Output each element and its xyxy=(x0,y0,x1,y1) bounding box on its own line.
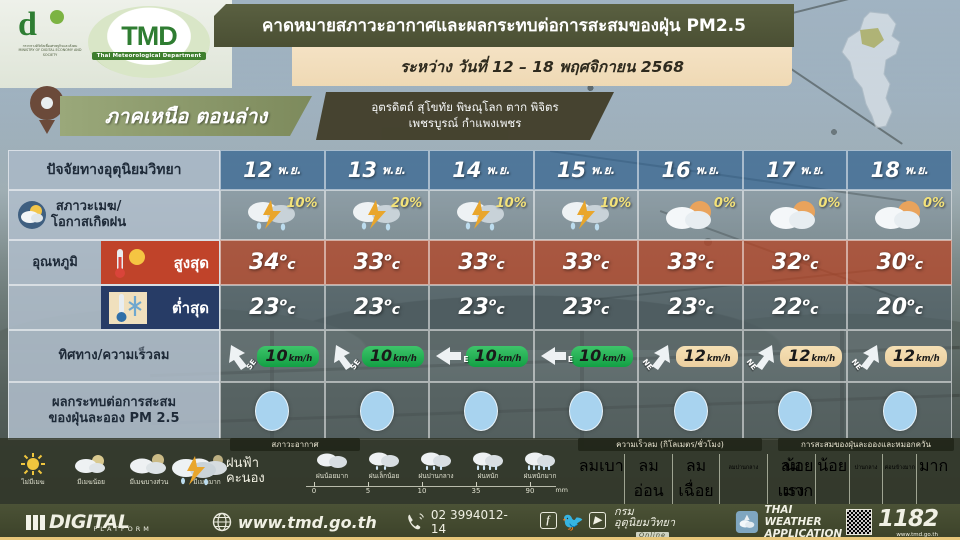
row-label-temperature: อุณหภูมิ xyxy=(9,255,101,271)
wind-speed-badge: 10 km/h xyxy=(257,346,319,367)
pm25-level-dot xyxy=(569,391,603,431)
wind-speed-value: 12 xyxy=(893,348,915,364)
temp-max-value: 33 xyxy=(354,250,385,275)
temp-unit: c xyxy=(392,257,400,273)
wind-direction-arrow-icon: NE xyxy=(853,339,883,373)
wind-speed-unit: km/h xyxy=(393,355,417,364)
wind-speed-value: 10 xyxy=(579,348,601,364)
day-number: 16 xyxy=(661,158,690,182)
ministry-logo-caption: กระทรวงดิจิทัลเพื่อเศรษฐกิจและสังคม MINI… xyxy=(18,44,82,57)
region-banner: ภาคเหนือ ตอนล่าง xyxy=(60,96,312,136)
row-label-wind: ทิศทาง/ความเร็วลม xyxy=(8,330,220,382)
day-number: 18 xyxy=(871,158,900,182)
temp-max-value: 33 xyxy=(563,250,594,275)
legend-storm-label-line2: คะนอง xyxy=(226,472,265,487)
legend-pm-label: น้อยมาก xyxy=(783,456,813,500)
heavy-rain-icon xyxy=(471,450,505,470)
qr-code-icon[interactable] xyxy=(846,509,872,535)
cloud-cell: 0% xyxy=(847,190,952,240)
partly-cloudy-icon xyxy=(660,196,722,234)
temp-max-label: สูงสุด xyxy=(174,254,209,272)
temp-unit: c xyxy=(706,257,714,273)
day-month: พ.ย. xyxy=(696,161,720,180)
temp-max-cell: 33oc xyxy=(638,240,743,285)
row-label-cloud-line1: สภาวะเมฆ/ xyxy=(51,199,126,215)
temp-min-value: 20 xyxy=(877,295,908,320)
wind-speed-unit: km/h xyxy=(602,355,626,364)
temp-min-value: 23 xyxy=(354,295,385,320)
cloud-icon xyxy=(315,450,349,470)
wind-speed-unit: km/h xyxy=(498,355,522,364)
day-header-cell: 18 พ.ย. xyxy=(847,150,952,190)
phone-number: 02 3994012-14 xyxy=(431,508,516,536)
legend-pm-label: ค่อนข้างมาก xyxy=(885,465,915,471)
app-label: THAI WEATHER APPLICATION xyxy=(764,504,846,540)
temp-min-value: 22 xyxy=(772,295,803,320)
legend-wind-label: ลมเบา xyxy=(579,456,624,475)
legend-strip: สภาวะอากาศ ไม่มีเมฆ มีเมฆน้อย xyxy=(0,438,960,504)
temp-max-cell: 33oc xyxy=(534,240,639,285)
day-number: 13 xyxy=(348,158,377,182)
globe-icon xyxy=(212,512,232,532)
pm25-cell xyxy=(429,382,534,440)
legend-rain-tick: 5 xyxy=(366,487,370,495)
cloud-cell: 0% xyxy=(743,190,848,240)
pm25-row: ผลกระทบต่อการสะสม ของฝุ่นละออง PM 2.5 xyxy=(8,382,952,440)
thermometer-hot-icon xyxy=(107,245,149,281)
pm25-cell xyxy=(534,382,639,440)
phone-icon xyxy=(405,511,425,533)
legend-storm-label-line1: ฝนฟ้า xyxy=(226,457,265,472)
legend-rain-item: ฝนน้อยมาก xyxy=(306,450,358,481)
social-links[interactable]: f 🐦 ▶ xyxy=(540,512,606,533)
day-header-cell: 15 พ.ย. xyxy=(534,150,639,190)
rain-probability: 20% xyxy=(391,196,422,211)
wind-speed-value: 12 xyxy=(684,348,706,364)
rain-probability: 10% xyxy=(496,196,527,211)
ministry-logo: d กระทรวงดิจิทัลเพื่อเศรษฐกิจและสังคม MI… xyxy=(18,8,82,70)
tmd-logo-subtitle: Thai Meteorological Department xyxy=(92,52,207,60)
legend-rain-unit: mm xyxy=(555,486,568,494)
wind-speed-badge: 10 km/h xyxy=(466,346,528,367)
temp-unit: c xyxy=(287,302,295,318)
logo-strip: d กระทรวงดิจิทัลเพื่อเศรษฐกิจและสังคม MI… xyxy=(0,0,232,88)
pm25-cell xyxy=(220,382,325,440)
tmd-online-label: กรมอุตุนิยมวิทยา Online xyxy=(614,506,689,539)
legend-pm-label: ปานกลาง xyxy=(855,465,878,471)
pm25-level-dot xyxy=(464,391,498,431)
row-label-pm25-line2: ของฝุ่นละออง PM 2.5 xyxy=(48,411,179,427)
row-label-temperature-max: อุณหภูมิ สูงสุด xyxy=(8,240,220,285)
hotline-block: 1182 www.tmd.go.th xyxy=(846,506,938,538)
wind-speed-value: 10 xyxy=(474,348,496,364)
legend-rain: ฝนน้อยมาก ฝนเล็กน้อย ฝนปานกลาง ฝนหนัก ฝน… xyxy=(306,450,566,498)
website-link[interactable]: www.tmd.go.th xyxy=(212,512,377,532)
temp-max-value: 30 xyxy=(877,250,908,275)
youtube-icon[interactable]: ▶ xyxy=(589,512,606,529)
legend-sky-label: มีเมฆน้อย xyxy=(77,477,105,487)
region-label: ภาคเหนือ ตอนล่าง xyxy=(105,100,267,132)
temp-unit: c xyxy=(601,302,609,318)
temp-unit: c xyxy=(915,302,923,318)
legend-pm-title: การสะสมของฝุ่นละอองและหมอกควัน xyxy=(778,438,954,451)
pm25-cell xyxy=(638,382,743,440)
wind-speed-badge: 12 km/h xyxy=(885,346,947,367)
infographic-root: d กระทรวงดิจิทัลเพื่อเศรษฐกิจและสังคม MI… xyxy=(0,0,960,540)
row-label-temperature-min: ต่ำสุด xyxy=(8,285,220,330)
twitter-icon[interactable]: 🐦 xyxy=(562,512,584,533)
wind-speed-badge: 12 km/h xyxy=(676,346,738,367)
legend-rain-item: ฝนปานกลาง xyxy=(410,450,462,481)
temp-min-cell: 23oc xyxy=(220,285,325,330)
wind-direction-arrow-icon: E xyxy=(434,339,464,373)
pm25-level-dot xyxy=(883,391,917,431)
day-month: พ.ย. xyxy=(591,161,615,180)
day-month: พ.ย. xyxy=(382,161,406,180)
tmd-online-text: กรมอุตุนิยมวิทยา xyxy=(614,506,689,528)
row-label-factors: ปัจจัยทางอุตุนิยมวิทยา xyxy=(8,150,220,190)
temp-min-cell: 23oc xyxy=(534,285,639,330)
wind-direction-arrow-icon: NE xyxy=(644,339,674,373)
page-title: คาดหมายสภาวะอากาศและผลกระทบต่อการสะสมของ… xyxy=(214,4,794,47)
temp-unit: c xyxy=(810,257,818,273)
legend-wind-label: ลมอ่อน xyxy=(634,456,664,500)
row-label-pm25: ผลกระทบต่อการสะสม ของฝุ่นละออง PM 2.5 xyxy=(8,382,220,440)
row-label-cloud: สภาวะเมฆ/ โอกาสเกิดฝน xyxy=(8,190,220,240)
pm25-level-dot xyxy=(255,391,289,431)
temp-max-value: 33 xyxy=(458,250,489,275)
temp-max-cell: 33oc xyxy=(325,240,430,285)
ministry-logo-dot xyxy=(50,10,64,24)
wind-direction-label: E xyxy=(463,355,468,364)
temp-max-row: อุณหภูมิ สูงสุด 34oc 33oc 33oc 33oc 33oc… xyxy=(8,240,952,285)
temp-min-cell: 20oc xyxy=(847,285,952,330)
app-label-line1: THAI WEATHER xyxy=(764,504,846,528)
day-number: 17 xyxy=(766,158,795,182)
wind-cell: NE 12 km/h xyxy=(638,330,743,382)
pm25-level-dot xyxy=(674,391,708,431)
temp-max-cell: 34oc xyxy=(220,240,325,285)
table-header-row: ปัจจัยทางอุตุนิยมวิทยา 12 พ.ย. 13 พ.ย. 1… xyxy=(8,150,952,190)
legend-sky-item: มีเมฆน้อย xyxy=(62,452,120,487)
wind-cell: E 10 km/h xyxy=(534,330,639,382)
legend-rain-label: ฝนหนักมาก xyxy=(524,471,557,481)
tmd-logo: TMD Thai Meteorological Department xyxy=(88,6,210,78)
temp-unit: c xyxy=(810,302,818,318)
cloud-cell: 10% xyxy=(220,190,325,240)
legend-rain-item: ฝนหนัก xyxy=(462,450,514,481)
cloud-cell: 0% xyxy=(638,190,743,240)
legend-pm-label: มาก xyxy=(919,456,948,475)
temp-min-row: ต่ำสุด 23oc 23oc 23oc 23oc 23oc 22oc 20o… xyxy=(8,285,952,330)
legend-rain-item: ฝนหนักมาก xyxy=(514,450,566,481)
wind-speed-badge: 10 km/h xyxy=(362,346,424,367)
day-header-cell: 16 พ.ย. xyxy=(638,150,743,190)
legend-rain-label: ฝนปานกลาง xyxy=(418,471,453,481)
rain-probability: 0% xyxy=(714,196,736,211)
day-month: พ.ย. xyxy=(800,161,824,180)
temp-min-cell: 22oc xyxy=(743,285,848,330)
partly-cloudy-icon xyxy=(869,196,931,234)
temp-min-value: 23 xyxy=(249,295,280,320)
province-list: อุตรดิตถ์ สุโขทัย พิษณุโลก ตาก พิจิตร เพ… xyxy=(316,92,614,140)
wind-row: ทิศทาง/ความเร็วลม SE 10 km/h SE 10 xyxy=(8,330,952,382)
wind-direction-arrow-icon: E xyxy=(539,339,569,373)
wind-direction-arrow-icon: SE xyxy=(330,339,360,373)
rain-probability: 10% xyxy=(600,196,631,211)
temp-unit: c xyxy=(601,257,609,273)
rain-probability: 0% xyxy=(923,196,945,211)
wind-direction-label: E xyxy=(568,355,573,364)
day-number: 14 xyxy=(452,158,481,182)
temp-max-value: 32 xyxy=(772,250,803,275)
legend-rain-tick: 0 xyxy=(312,487,316,495)
wind-speed-badge: 12 km/h xyxy=(780,346,842,367)
wind-speed-unit: km/h xyxy=(289,355,313,364)
rain-probability: 0% xyxy=(818,196,840,211)
phone-contact: 02 3994012-14 xyxy=(405,508,516,536)
temp-unit: c xyxy=(392,302,400,318)
pm25-cell xyxy=(847,382,952,440)
wind-speed-value: 10 xyxy=(265,348,287,364)
wind-cell: NE 12 km/h xyxy=(847,330,952,382)
wind-cell: SE 10 km/h xyxy=(220,330,325,382)
legend-wind-title: ความเร็วลม (กิโลเมตร/ชั่วโมง) xyxy=(578,438,762,451)
facebook-icon[interactable]: f xyxy=(540,512,557,529)
pm25-level-dot xyxy=(360,391,394,431)
temp-min-label: ต่ำสุด xyxy=(172,299,209,317)
wind-cell: E 10 km/h xyxy=(429,330,534,382)
temp-max-cell: 30oc xyxy=(847,240,952,285)
thunderstorm-icon xyxy=(168,452,220,492)
temp-min-value: 23 xyxy=(563,295,594,320)
temp-unit: c xyxy=(496,302,504,318)
wind-speed-value: 10 xyxy=(370,348,392,364)
digital-platform-logo: DIGITAL PLATFORM xyxy=(26,511,192,533)
day-header-cell: 17 พ.ย. xyxy=(743,150,848,190)
thai-weather-app-icon xyxy=(735,509,759,535)
temp-min-cell: 23oc xyxy=(325,285,430,330)
legend-rain-scale: 0 5 10 35 90 mm xyxy=(306,482,566,498)
legend-pm-label: น้อย xyxy=(817,456,847,475)
partly-cloudy-icon xyxy=(128,452,170,476)
temp-min-value: 23 xyxy=(667,295,698,320)
legend-wind-label: ลมปานกลาง xyxy=(729,465,759,471)
forecast-table: ปัจจัยทางอุตุนิยมวิทยา 12 พ.ย. 13 พ.ย. 1… xyxy=(8,150,952,440)
thai-weather-app[interactable]: THAI WEATHER APPLICATION xyxy=(735,504,846,540)
temp-unit: c xyxy=(915,257,923,273)
legend-rain-tick: 90 xyxy=(526,487,535,495)
partly-cloudy-icon xyxy=(17,200,47,230)
day-header-cell: 12 พ.ย. xyxy=(220,150,325,190)
temp-min-value: 23 xyxy=(458,295,489,320)
day-month: พ.ย. xyxy=(487,161,511,180)
temp-min-chip: ต่ำสุด xyxy=(101,286,219,329)
temp-max-value: 34 xyxy=(249,250,280,275)
wind-speed-unit: km/h xyxy=(811,355,835,364)
legend-thunderstorm: ฝนฟ้า คะนอง xyxy=(168,452,265,492)
wind-speed-unit: km/h xyxy=(707,355,731,364)
legend-rain-label: ฝนหนัก xyxy=(478,471,499,481)
thailand-map-icon xyxy=(826,8,936,134)
wind-cell: NE 12 km/h xyxy=(743,330,848,382)
hotline-number: 1182 xyxy=(878,506,938,532)
legend-rain-tick: 35 xyxy=(472,487,481,495)
pm25-cell xyxy=(743,382,848,440)
light-rain-icon xyxy=(367,450,401,470)
legend-wind-label: ลมเฉื่อย xyxy=(678,456,713,500)
digital-bars-icon xyxy=(26,515,45,530)
temp-max-cell: 32oc xyxy=(743,240,848,285)
temp-max-chip: สูงสุด xyxy=(101,241,219,284)
row-label-cloud-line2: โอกาสเกิดฝน xyxy=(51,215,126,231)
sun-small-cloud-icon xyxy=(71,452,111,476)
wind-speed-unit: km/h xyxy=(916,355,940,364)
wind-speed-value: 12 xyxy=(788,348,810,364)
day-header-cell: 13 พ.ย. xyxy=(325,150,430,190)
day-month: พ.ย. xyxy=(905,161,929,180)
province-line-2: เพชรบูรณ์ กำแพงเพชร xyxy=(409,116,522,132)
tmd-logo-wordmark: TMD xyxy=(121,24,176,50)
pm25-level-dot xyxy=(778,391,812,431)
day-month: พ.ย. xyxy=(277,161,301,180)
day-number: 15 xyxy=(557,158,586,182)
legend-rain-label: ฝนเล็กน้อย xyxy=(369,471,400,481)
moderate-rain-icon xyxy=(419,450,453,470)
temp-unit: c xyxy=(496,257,504,273)
thermometer-cold-icon xyxy=(107,290,149,326)
temp-unit: c xyxy=(706,302,714,318)
legend-rain-label: ฝนน้อยมาก xyxy=(316,471,348,481)
cloud-cell: 10% xyxy=(534,190,639,240)
legend-rain-item: ฝนเล็กน้อย xyxy=(358,450,410,481)
wind-direction-arrow-icon: NE xyxy=(748,339,778,373)
temp-unit: c xyxy=(287,257,295,273)
location-pin-icon xyxy=(30,86,64,132)
very-heavy-rain-icon xyxy=(523,450,557,470)
website-url: www.tmd.go.th xyxy=(238,513,377,532)
temp-max-cell: 33oc xyxy=(429,240,534,285)
row-label-pm25-line1: ผลกระทบต่อการสะสม xyxy=(48,395,179,411)
partly-cloudy-icon xyxy=(764,196,826,234)
footer-bar: DIGITAL PLATFORM www.tmd.go.th 02 399401… xyxy=(0,504,960,540)
wind-cell: SE 10 km/h xyxy=(325,330,430,382)
legend-sky-label: มีเมฆบางส่วน xyxy=(130,477,169,487)
digital-platform-bottom: PLATFORM xyxy=(93,525,152,533)
pm25-cell xyxy=(325,382,430,440)
sun-icon xyxy=(20,452,46,476)
legend-sky-item: ไม่มีเมฆ xyxy=(4,452,62,487)
cloud-rain-row: สภาวะเมฆ/ โอกาสเกิดฝน 10% xyxy=(8,190,952,240)
temp-max-value: 33 xyxy=(667,250,698,275)
day-number: 12 xyxy=(243,158,272,182)
day-header-cell: 14 พ.ย. xyxy=(429,150,534,190)
temp-min-cell: 23oc xyxy=(638,285,743,330)
legend-sky-label: ไม่มีเมฆ xyxy=(21,477,44,487)
temp-min-cell: 23oc xyxy=(429,285,534,330)
wind-direction-arrow-icon: SE xyxy=(225,339,255,373)
wind-speed-badge: 10 km/h xyxy=(571,346,633,367)
cloud-cell: 20% xyxy=(325,190,430,240)
legend-rain-tick: 10 xyxy=(418,487,427,495)
cloud-cell: 10% xyxy=(429,190,534,240)
date-range-banner: ระหว่าง วันที่ 12 – 18 พฤศจิกายน 2568 xyxy=(292,47,792,86)
province-line-1: อุตรดิตถ์ สุโขทัย พิษณุโลก ตาก พิจิตร xyxy=(371,100,558,116)
rain-probability: 10% xyxy=(286,196,317,211)
